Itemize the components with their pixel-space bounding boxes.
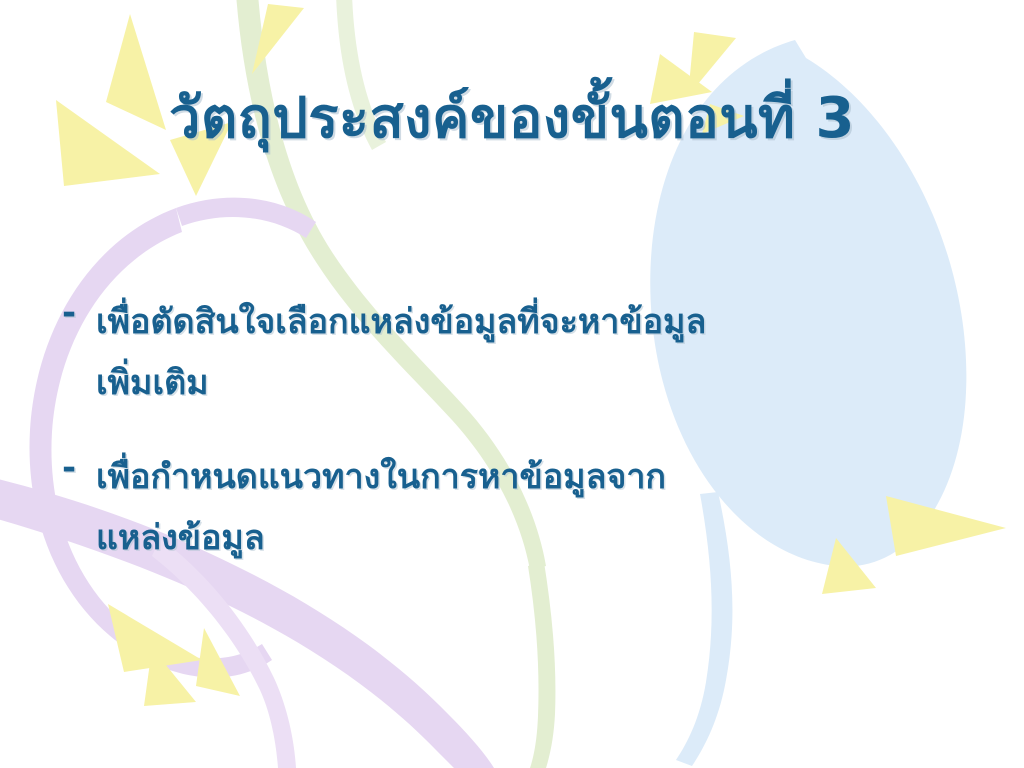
page-title: วัตถุประสงค์ของขั้นตอนที่ 3 <box>0 86 1024 152</box>
list-item: - เพื่อตัดสินใจเลือกแหล่งข้อมูลที่จะหาข้… <box>62 292 962 413</box>
bullet-line: เพื่อกำหนดแนวทางในการหาข้อมูลจาก <box>96 447 962 508</box>
slide-content: วัตถุประสงค์ของขั้นตอนที่ 3 - เพื่อตัดสิ… <box>0 0 1024 768</box>
bullet-list: - เพื่อตัดสินใจเลือกแหล่งข้อมูลที่จะหาข้… <box>62 292 962 574</box>
bullet-text: เพื่อกำหนดแนวทางในการหาข้อมูลจาก แหล่งข้… <box>96 447 962 568</box>
bullet-marker: - <box>62 292 96 336</box>
bullet-marker: - <box>62 447 96 491</box>
list-item: - เพื่อกำหนดแนวทางในการหาข้อมูลจาก แหล่ง… <box>62 447 962 568</box>
bullet-line: เพิ่มเติม <box>96 353 962 414</box>
bullet-text: เพื่อตัดสินใจเลือกแหล่งข้อมูลที่จะหาข้อม… <box>96 292 962 413</box>
bullet-line: เพื่อตัดสินใจเลือกแหล่งข้อมูลที่จะหาข้อม… <box>96 292 962 353</box>
bullet-line: แหล่งข้อมูล <box>96 508 962 569</box>
presentation-slide: วัตถุประสงค์ของขั้นตอนที่ 3 - เพื่อตัดสิ… <box>0 0 1024 768</box>
